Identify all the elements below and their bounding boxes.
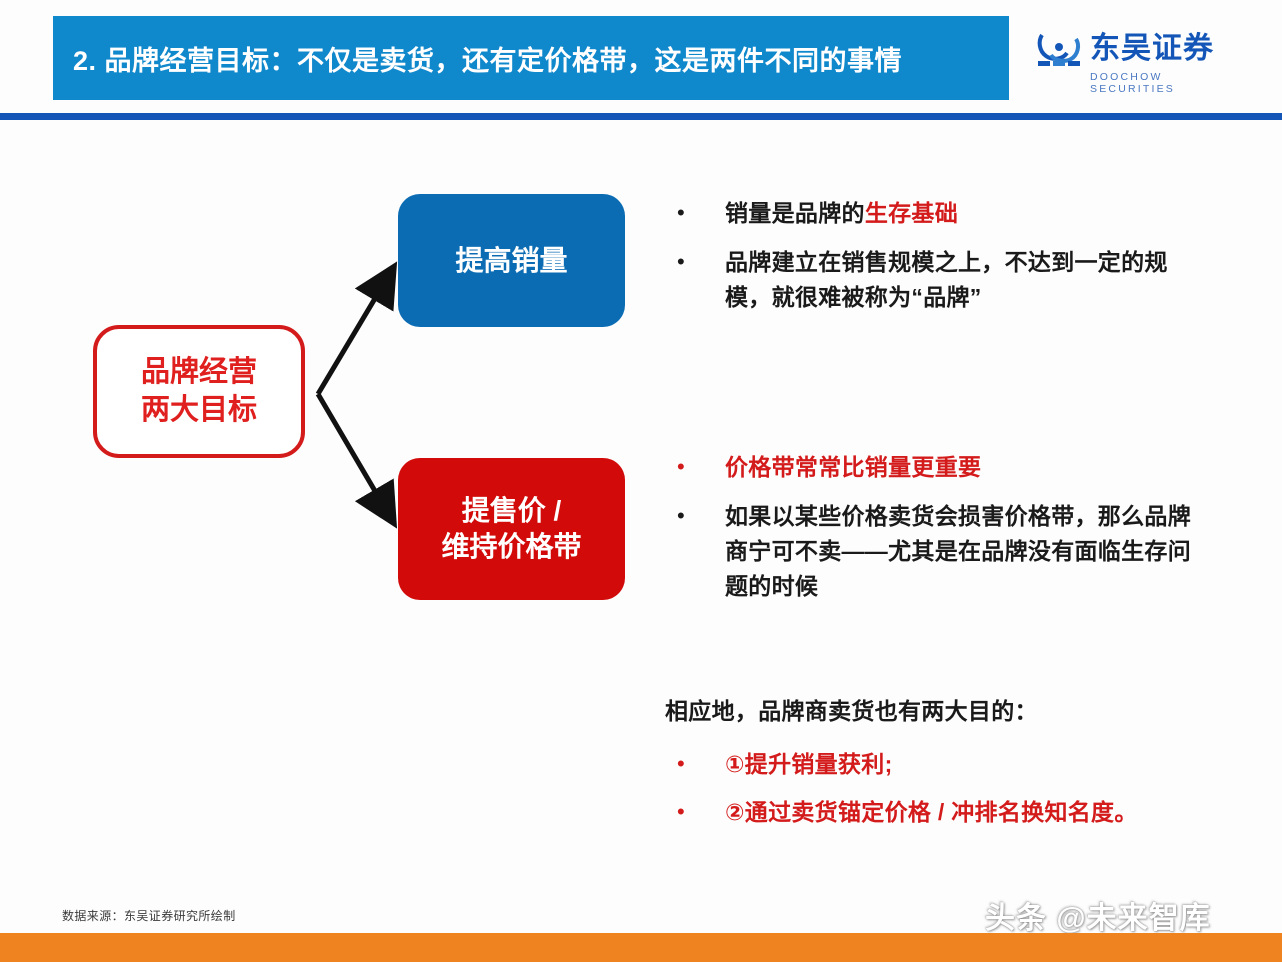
diagram-node-raise-price-line1: 提售价 /	[462, 493, 562, 529]
diagram-node-raise-price-line2: 维持价格带	[441, 529, 581, 565]
logo-row: 东吴证券	[1036, 30, 1248, 68]
diagram-node-root-line2: 两大目标	[141, 392, 257, 429]
diagram-node-root[interactable]: 品牌经营 两大目标	[93, 325, 305, 458]
bullet-text: 价格带常常比销量更重要	[725, 450, 981, 485]
bullet-text: ②通过卖货锚定价格 / 冲排名换知名度。	[725, 795, 1138, 830]
list-item: • 品牌建立在销售规模之上，不达到一定的规模，就很难被称为“品牌”	[665, 245, 1245, 315]
bullet-text-highlight: 生存基础	[865, 200, 958, 226]
source-note: 数据来源：东吴证券研究所绘制	[62, 907, 236, 924]
bullet-text: 销量是品牌的生存基础	[725, 196, 958, 231]
bullet-dot-icon: •	[665, 196, 725, 230]
soochow-logo-icon	[1036, 30, 1082, 68]
footer-accent-bar	[0, 933, 1282, 962]
list-item: • ①提升销量获利;	[665, 747, 1245, 782]
purposes-lead-text: 相应地，品牌商卖货也有两大目的：	[665, 694, 1245, 729]
bullet-text: 如果以某些价格卖货会损害价格带，那么品牌商宁可不卖——尤其是在品牌没有面临生存问…	[725, 499, 1195, 604]
diagram-node-raise-price[interactable]: 提售价 / 维持价格带	[398, 458, 625, 600]
header-bar: 2. 品牌经营目标：不仅是卖货，还有定价格带，这是两件不同的事情	[53, 16, 1009, 100]
list-item: • 如果以某些价格卖货会损害价格带，那么品牌商宁可不卖——尤其是在品牌没有面临生…	[665, 499, 1245, 604]
diagram-node-increase-sales-label: 提高销量	[455, 243, 567, 279]
logo-name-cn: 东吴证券	[1090, 34, 1214, 64]
bullet-dot-icon: •	[665, 795, 725, 829]
diagram-node-root-line1: 品牌经营	[141, 354, 257, 391]
bullet-group-purposes: 相应地，品牌商卖货也有两大目的： • ①提升销量获利; • ②通过卖货锚定价格 …	[665, 694, 1245, 844]
bullet-group-sales: • 销量是品牌的生存基础 • 品牌建立在销售规模之上，不达到一定的规模，就很难被…	[665, 196, 1245, 329]
header-divider-rule	[0, 113, 1282, 120]
diagram-node-increase-sales[interactable]: 提高销量	[398, 194, 625, 327]
list-item: • ②通过卖货锚定价格 / 冲排名换知名度。	[665, 795, 1245, 830]
watermark: 头条 @未来智库	[985, 893, 1211, 937]
bullet-text-prefix: 销量是品牌的	[725, 200, 865, 226]
bullet-dot-icon: •	[665, 245, 725, 279]
bullet-text: ①提升销量获利;	[725, 747, 893, 782]
bullet-dot-icon: •	[665, 747, 725, 781]
page-title: 2. 品牌经营目标：不仅是卖货，还有定价格带，这是两件不同的事情	[53, 39, 902, 78]
list-item: • 销量是品牌的生存基础	[665, 196, 1245, 231]
logo-name-en: DOOCHOW SECURITIES	[1090, 71, 1248, 95]
slide-canvas: 2. 品牌经营目标：不仅是卖货，还有定价格带，这是两件不同的事情 东吴证券 DO…	[0, 0, 1282, 962]
bullet-dot-icon: •	[665, 450, 725, 484]
bullet-dot-icon: •	[665, 499, 725, 533]
company-logo: 东吴证券 DOOCHOW SECURITIES	[1036, 33, 1248, 91]
list-item: • 价格带常常比销量更重要	[665, 450, 1245, 485]
bullet-text: 品牌建立在销售规模之上，不达到一定的规模，就很难被称为“品牌”	[725, 245, 1195, 315]
bullet-group-price-band: • 价格带常常比销量更重要 • 如果以某些价格卖货会损害价格带，那么品牌商宁可不…	[665, 450, 1245, 618]
